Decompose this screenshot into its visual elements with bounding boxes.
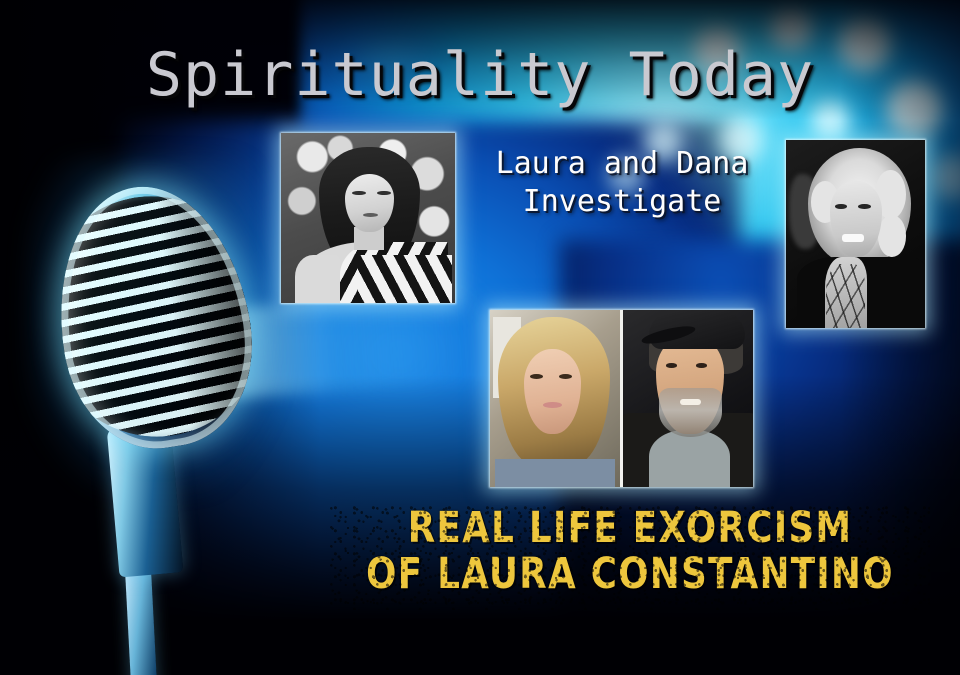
photo-laura-striped-top-panel bbox=[358, 255, 452, 303]
photo-dana-curl-3 bbox=[878, 215, 906, 256]
photo-laura-portrait bbox=[281, 133, 455, 303]
photo-couple-woman-eye-left bbox=[530, 374, 543, 379]
photo-couple-man-smile bbox=[680, 399, 701, 405]
podcast-poster: Spirituality Today Laura and Dana Invest… bbox=[0, 0, 960, 675]
photo-laura-face bbox=[345, 174, 394, 232]
microphone-graphic bbox=[18, 150, 288, 670]
show-subtitle: Laura and Dana Investigate bbox=[452, 145, 792, 222]
photo-couple-man bbox=[623, 310, 753, 487]
photo-couple-woman-lips bbox=[543, 402, 561, 408]
photo-dana-face bbox=[830, 181, 881, 256]
photo-laura-arm bbox=[295, 255, 340, 303]
photo-dana-eye-left bbox=[835, 204, 848, 209]
headline-line-1: REAL LIFE EXORCISM bbox=[354, 505, 906, 551]
subtitle-line-1: Laura and Dana bbox=[452, 145, 792, 183]
photo-couple-woman-eye-right bbox=[559, 374, 572, 379]
photo-laura-eye-right bbox=[377, 191, 391, 195]
photo-dana-content bbox=[786, 140, 925, 328]
photo-laura-lips bbox=[363, 213, 379, 217]
headline-line-2: OF LAURA CONSTANTINO bbox=[354, 551, 906, 597]
photo-couple-pair bbox=[490, 310, 753, 487]
photo-laura-content bbox=[281, 133, 455, 303]
photo-dana-smile bbox=[842, 234, 864, 242]
photo-dana-tattoo bbox=[826, 264, 865, 328]
photo-couple-man-beard bbox=[659, 388, 722, 438]
photo-couple-man-eye-right bbox=[696, 363, 708, 368]
show-title: Spirituality Today bbox=[0, 40, 960, 110]
photo-couple-divider bbox=[620, 310, 622, 487]
photo-couple-woman-top bbox=[495, 459, 615, 487]
episode-headline: REAL LIFE EXORCISM OF LAURA CONSTANTINO bbox=[354, 505, 906, 598]
photo-dana-portrait bbox=[786, 140, 925, 328]
photo-couple-man-shirt bbox=[649, 430, 730, 487]
subtitle-line-2: Investigate bbox=[452, 183, 792, 221]
photo-dana-eye-right bbox=[858, 204, 871, 209]
photo-couple-woman bbox=[490, 310, 620, 487]
photo-couple-man-eye-left bbox=[666, 363, 678, 368]
